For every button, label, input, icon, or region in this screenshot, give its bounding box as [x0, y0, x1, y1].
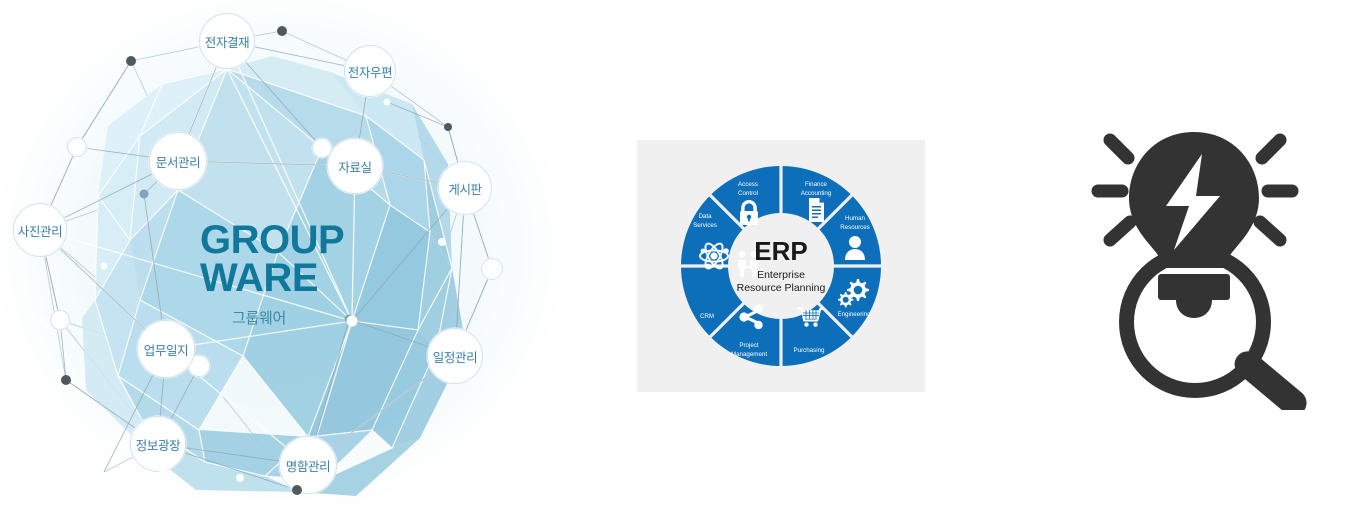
erp-donut-svg: Access Control Finance Accounting Human …: [637, 140, 925, 392]
node-label: 일정관리: [433, 347, 477, 366]
erp-label-project-l2: Management: [731, 351, 767, 358]
node-schedule-management[interactable]: 일정관리: [427, 328, 483, 384]
idea-search-graphic: [1050, 110, 1368, 410]
node-business-card-management[interactable]: 명함관리: [279, 436, 337, 494]
node-label: 명함관리: [286, 456, 330, 475]
node-work-log[interactable]: 업무일지: [137, 320, 195, 378]
bulb-base: [1158, 274, 1230, 300]
document-icon: [809, 198, 824, 222]
node-label: 사진관리: [18, 221, 62, 240]
node-label: 게시판: [448, 179, 481, 198]
erp-label-access-control-l1: Access: [738, 181, 758, 188]
node-email[interactable]: 전자우편: [344, 45, 396, 97]
erp-label-purchasing: Purchasing: [794, 347, 826, 354]
erp-label-hr-l2: Resources: [840, 224, 870, 231]
node-label: 전자결재: [205, 32, 249, 51]
network-node-plain: [67, 137, 87, 157]
groupware-graphic: 전자결재 전자우편 자료실 게시판 문서관리 사진관리 일정관리 업무일지 정보…: [0, 0, 560, 519]
erp-label-crm: CRM: [700, 313, 714, 320]
bulb-tip: [1176, 300, 1212, 318]
node-label: 정보광장: [136, 435, 180, 454]
node-bulletin-board[interactable]: 게시판: [438, 161, 492, 215]
groupware-network-svg: [0, 0, 560, 519]
erp-label-finance-l2: Accounting: [801, 190, 832, 197]
erp-label-project-l1: Project: [739, 342, 759, 349]
network-node-plain: [481, 258, 503, 280]
node-electronic-approval[interactable]: 전자결재: [199, 13, 255, 69]
node-photo-management[interactable]: 사진관리: [13, 203, 67, 257]
node-label: 문서관리: [156, 152, 200, 171]
node-archive[interactable]: 자료실: [327, 138, 383, 194]
network-node-plain: [50, 310, 70, 330]
erp-label-finance-l1: Finance: [805, 181, 828, 188]
node-label: 전자우편: [348, 62, 392, 81]
erp-label-access-control-l2: Control: [738, 190, 758, 197]
node-label: 업무일지: [144, 340, 188, 359]
erp-label-data-l1: Data: [698, 213, 712, 220]
erp-label-data-l2: Services: [693, 222, 717, 229]
node-document-management[interactable]: 문서관리: [149, 132, 207, 190]
magnifier-icon: [1119, 246, 1312, 410]
lightbulb-magnifier-icon: [1050, 110, 1368, 410]
node-label: 자료실: [338, 157, 371, 176]
erp-label-engineering: Engineering: [837, 311, 871, 318]
erp-diagram: Access Control Finance Accounting Human …: [637, 140, 925, 392]
erp-label-hr-l1: Human: [845, 215, 866, 222]
node-info-plaza[interactable]: 정보광장: [130, 416, 186, 472]
